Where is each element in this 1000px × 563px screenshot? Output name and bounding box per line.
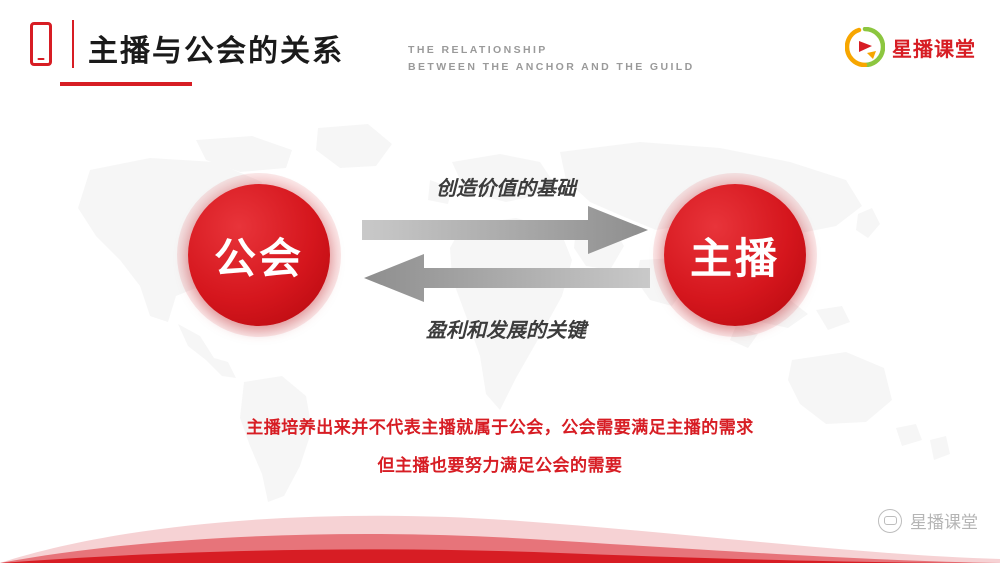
diagram-node-anchor: 主播 — [662, 182, 808, 328]
caption-bottom: 盈利和发展的关键 — [306, 314, 706, 343]
watermark-text: 星播课堂 — [910, 508, 978, 533]
node-core-left: 公会 — [188, 184, 330, 326]
caption-top: 创造价值的基础 — [306, 172, 706, 201]
node-label-anchor: 主播 — [690, 225, 780, 286]
slide-header: 主播与公会的关系 THE RELATIONSHIP BETWEEN THE AN… — [0, 0, 1000, 100]
page-title: 主播与公会的关系 — [88, 26, 344, 70]
wechat-icon — [878, 509, 902, 533]
page-subtitle: THE RELATIONSHIP BETWEEN THE ANCHOR AND … — [408, 42, 695, 76]
bottom-decoration — [0, 493, 1000, 563]
footnote-line-1: 主播培养出来并不代表主播就属于公会，公会需要满足主播的需求 — [0, 413, 1000, 438]
watermark: 星播课堂 — [878, 508, 978, 533]
node-label-guild: 公会 — [214, 225, 304, 286]
arrow-right-icon — [362, 206, 648, 254]
footnote-line-2: 但主播也要努力满足公会的需要 — [0, 451, 1000, 476]
page-subtitle-line1: THE RELATIONSHIP — [408, 42, 695, 59]
brand-logo: 星播课堂 — [845, 26, 976, 68]
diagram-arrows — [356, 200, 656, 320]
page-subtitle-line2: BETWEEN THE ANCHOR AND THE GUILD — [408, 59, 695, 76]
node-core-right: 主播 — [664, 184, 806, 326]
header-divider — [72, 20, 74, 68]
arrow-left-icon — [364, 254, 650, 302]
diagram-node-guild: 公会 — [186, 182, 332, 328]
phone-icon — [30, 22, 52, 66]
logo-mark-icon — [845, 27, 885, 67]
logo-text: 星播课堂 — [892, 33, 976, 62]
title-underline — [60, 82, 192, 86]
